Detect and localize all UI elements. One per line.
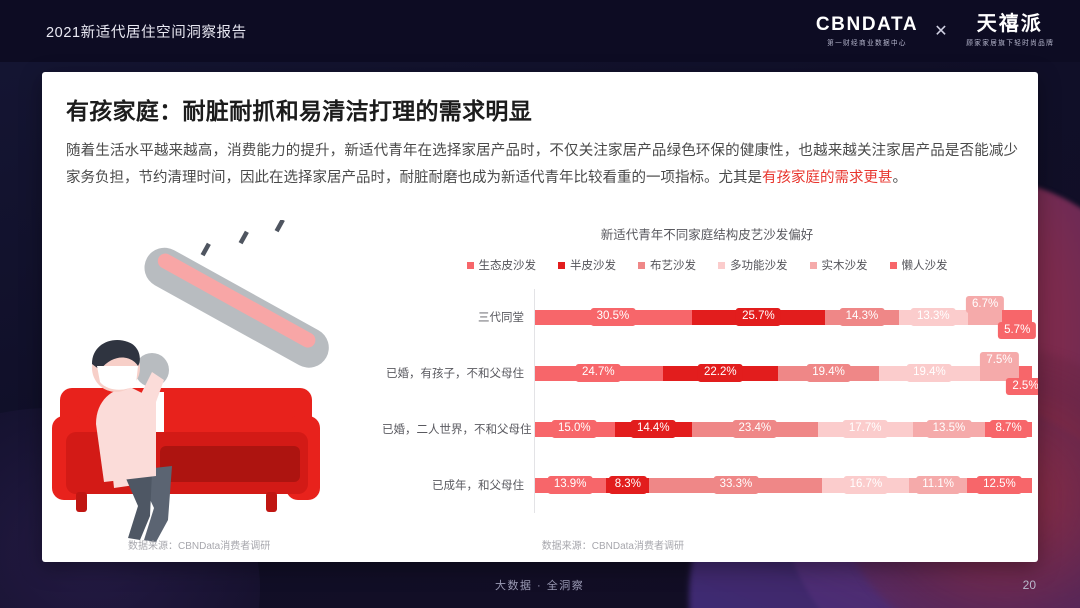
chart-value-label: 30.5%: [591, 308, 636, 326]
chart-value-label: 17.7%: [843, 420, 888, 438]
page-number: 20: [1023, 578, 1036, 592]
chart-segment[interactable]: 24.7%: [534, 366, 663, 381]
chart-bar-track: 24.7%22.2%19.4%19.4%7.5%2.5%: [534, 345, 1032, 401]
illustration: [52, 220, 382, 550]
source-note-left: 数据来源：CBNData消费者调研: [128, 537, 270, 552]
chart-segment[interactable]: 19.4%: [778, 366, 879, 381]
legend-label: 布艺沙发: [650, 257, 696, 273]
chart-segment[interactable]: 5.7%: [1002, 310, 1032, 325]
chart-value-label: 5.7%: [998, 322, 1036, 340]
source-notes: 数据来源：CBNData消费者调研 数据来源：CBNData消费者调研: [66, 537, 1014, 552]
legend-swatch-icon: [810, 262, 817, 269]
chart-bar-track: 30.5%25.7%14.3%13.3%6.7%5.7%: [534, 289, 1032, 345]
chart-value-label: 19.4%: [907, 364, 952, 382]
chart-value-label: 33.3%: [714, 476, 759, 494]
chart-plot-area: 三代同堂30.5%25.7%14.3%13.3%6.7%5.7%已婚，有孩子，不…: [382, 289, 1032, 513]
chart-segment[interactable]: 13.9%: [534, 478, 606, 493]
chart-value-label: 15.0%: [552, 420, 597, 438]
chart-segment[interactable]: 6.7%: [968, 310, 1003, 325]
chart-segment[interactable]: 15.0%: [534, 422, 615, 437]
legend-swatch-icon: [467, 262, 474, 269]
chart-segment[interactable]: 30.5%: [534, 310, 692, 325]
chart-value-label: 25.7%: [736, 308, 781, 326]
chart-value-label: 11.1%: [916, 476, 960, 494]
chart-value-label: 13.3%: [911, 308, 956, 326]
chart-segment[interactable]: 8.3%: [606, 478, 649, 493]
tianxipai-logo: 天禧派 顾家家居旗下轻时尚品牌: [964, 14, 1056, 48]
deck-title: 2021新适代居住空间洞察报告: [46, 21, 247, 42]
chart-segment[interactable]: 14.4%: [615, 422, 692, 437]
source-note-right: 数据来源：CBNData消费者调研: [542, 537, 684, 552]
chart-value-label: 24.7%: [576, 364, 621, 382]
chart-row: 已婚，有孩子，不和父母住24.7%22.2%19.4%19.4%7.5%2.5%: [382, 345, 1032, 401]
logo-separator-icon: ✕: [934, 21, 947, 41]
slide-card: 有孩家庭：耐脏耐抓和易清洁打理的需求明显 随着生活水平越来越高，消费能力的提升，…: [42, 72, 1038, 562]
legend-item-4[interactable]: 实木沙发: [810, 257, 868, 273]
legend-item-3[interactable]: 多功能沙发: [718, 257, 788, 273]
cbndata-logo: CBNDATA 第一财经商业数据中心: [816, 15, 918, 48]
chart-segment[interactable]: 13.3%: [899, 310, 968, 325]
legend-label: 生态皮沙发: [479, 257, 537, 273]
legend-swatch-icon: [638, 262, 645, 269]
chart-value-label: 12.5%: [977, 476, 1022, 494]
chart-segment[interactable]: 12.5%: [967, 478, 1032, 493]
body-text-highlight: 有孩家庭的需求更甚: [762, 170, 893, 186]
chart-row-label: 三代同堂: [382, 309, 534, 325]
chart: 新适代青年不同家庭结构皮艺沙发偏好 生态皮沙发半皮沙发布艺沙发多功能沙发实木沙发…: [382, 222, 1032, 552]
chart-legend: 生态皮沙发半皮沙发布艺沙发多功能沙发实木沙发懒人沙发: [382, 257, 1032, 273]
chart-segment[interactable]: 23.4%: [692, 422, 818, 437]
chart-rows: 三代同堂30.5%25.7%14.3%13.3%6.7%5.7%已婚，有孩子，不…: [382, 289, 1032, 513]
chart-segment[interactable]: 16.7%: [822, 478, 909, 493]
chart-segment[interactable]: 13.5%: [913, 422, 986, 437]
cbndata-wordmark: CBNDATA: [816, 15, 918, 34]
legend-label: 半皮沙发: [570, 257, 616, 273]
chart-row: 已婚，二人世界，不和父母住15.0%14.4%23.4%17.7%13.5%8.…: [382, 401, 1032, 457]
tianxipai-subtitle: 顾家家居旗下轻时尚品牌: [966, 38, 1054, 48]
legend-item-5[interactable]: 懒人沙发: [890, 257, 948, 273]
chart-value-label: 14.4%: [631, 420, 676, 438]
sofa-seat-shadow: [160, 446, 300, 482]
tianxipai-wordmark: 天禧派: [977, 14, 1043, 34]
chart-value-label: 14.3%: [840, 308, 885, 326]
legend-swatch-icon: [558, 262, 565, 269]
legend-label: 实木沙发: [822, 257, 868, 273]
chart-segment[interactable]: 33.3%: [649, 478, 822, 493]
sofa-leg-left: [76, 492, 87, 512]
chart-row: 三代同堂30.5%25.7%14.3%13.3%6.7%5.7%: [382, 289, 1032, 345]
chart-segment[interactable]: 19.4%: [879, 366, 980, 381]
legend-swatch-icon: [718, 262, 725, 269]
chart-segment[interactable]: 8.7%: [985, 422, 1032, 437]
body-paragraph: 随着生活水平越来越高，消费能力的提升，新适代青年在选择家居产品时，不仅关注家居产…: [66, 138, 1018, 192]
sofa-leg-right: [266, 492, 277, 512]
chart-segment[interactable]: 25.7%: [692, 310, 825, 325]
chart-value-label: 6.7%: [966, 296, 1004, 314]
chart-row-label: 已成年，和父母住: [382, 477, 534, 493]
chart-bar-track: 15.0%14.4%23.4%17.7%13.5%8.7%: [534, 401, 1032, 457]
body-text-part2: 。: [893, 170, 908, 186]
footer-tagline: 大数据 · 全洞察: [495, 577, 584, 593]
chart-segment[interactable]: 14.3%: [825, 310, 899, 325]
chart-bar-track: 13.9%8.3%33.3%16.7%11.1%12.5%: [534, 457, 1032, 513]
chart-segment[interactable]: 2.5%: [1019, 366, 1032, 381]
person-on-sofa-illustration: [52, 220, 382, 550]
chart-segment[interactable]: 11.1%: [909, 478, 967, 493]
thermometer-icon: [135, 220, 336, 387]
chart-value-label: 7.5%: [980, 352, 1018, 370]
chart-value-label: 8.3%: [609, 476, 647, 494]
chart-segment[interactable]: 17.7%: [818, 422, 913, 437]
legend-label: 多功能沙发: [730, 257, 788, 273]
chart-value-label: 16.7%: [844, 476, 889, 494]
slide-header: 2021新适代居住空间洞察报告 CBNDATA 第一财经商业数据中心 ✕ 天禧派…: [0, 0, 1080, 62]
chart-value-label: 8.7%: [989, 420, 1027, 438]
page-title: 有孩家庭：耐脏耐抓和易清洁打理的需求明显: [66, 92, 532, 126]
chart-value-label: 13.5%: [927, 420, 972, 438]
legend-swatch-icon: [890, 262, 897, 269]
cbndata-subtitle: 第一财经商业数据中心: [827, 38, 907, 48]
chart-row-label: 已婚，有孩子，不和父母住: [382, 365, 534, 381]
legend-label: 懒人沙发: [902, 257, 948, 273]
chart-row: 已成年，和父母住13.9%8.3%33.3%16.7%11.1%12.5%: [382, 457, 1032, 513]
chart-value-label: 2.5%: [1006, 378, 1038, 396]
chart-title: 新适代青年不同家庭结构皮艺沙发偏好: [382, 224, 1032, 243]
chart-value-label: 22.2%: [698, 364, 743, 382]
chart-segment[interactable]: 22.2%: [663, 366, 779, 381]
logo-group: CBNDATA 第一财经商业数据中心 ✕ 天禧派 顾家家居旗下轻时尚品牌: [816, 14, 1056, 48]
chart-row-label: 已婚，二人世界，不和父母住: [382, 421, 534, 437]
legend-item-0[interactable]: 生态皮沙发: [467, 257, 537, 273]
chart-value-label: 23.4%: [732, 420, 777, 438]
slide-footer: 大数据 · 全洞察 20: [0, 562, 1080, 608]
chart-value-label: 19.4%: [806, 364, 851, 382]
legend-item-1[interactable]: 半皮沙发: [558, 257, 616, 273]
chart-value-label: 13.9%: [548, 476, 593, 494]
legend-item-2[interactable]: 布艺沙发: [638, 257, 696, 273]
